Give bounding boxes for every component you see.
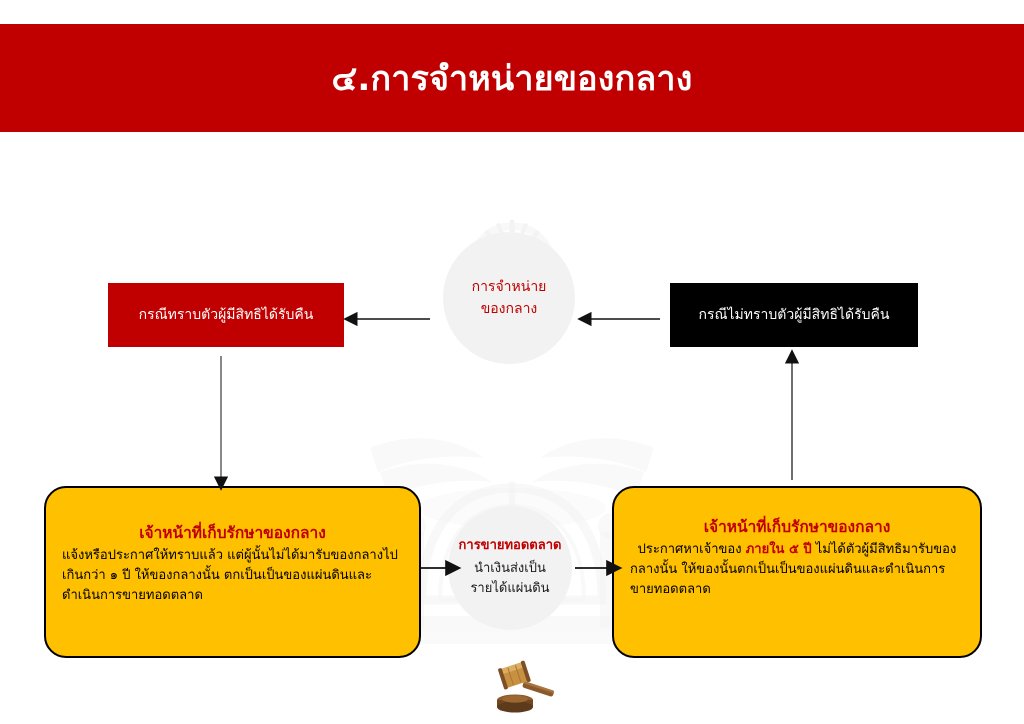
page-title: ๔.การจำหน่ายของกลาง xyxy=(0,24,1024,132)
officer-right-body: ประกาศหาเจ้าของ ภายใน ๕ ปี ไม่ได้ตัวผู้ม… xyxy=(630,540,964,600)
node-disposal-of-evidence[interactable]: การจำหน่าย ของกลาง xyxy=(443,232,575,364)
officer-left-heading: เจ้าหน้าที่เก็บรักษาของกลาง xyxy=(62,524,403,543)
auction-label-line2: รายได้แผ่นดิน xyxy=(470,579,549,600)
auction-title: การขายทอดตลาด xyxy=(459,536,562,557)
officer-right-body-part2: ไม่ได้ตัวผู้มีสิทธิมารับของ xyxy=(812,542,957,557)
node-public-auction[interactable]: การขายทอดตลาด นำเงินส่งเป็น รายได้แผ่นดิ… xyxy=(448,506,572,630)
box-case-unknown-rightholder[interactable]: กรณีไม่ทราบตัวผู้มีสิทธิได้รับคืน xyxy=(670,283,918,347)
disposal-label-line1: การจำหน่าย xyxy=(472,276,547,298)
auction-label-line1: นำเงินส่งเป็น xyxy=(474,559,546,580)
box-case-known-rightholder[interactable]: กรณีทราบตัวผู้มีสิทธิได้รับคืน xyxy=(108,283,344,347)
officer-right-heading: เจ้าหน้าที่เก็บรักษาของกลาง xyxy=(630,518,964,537)
header-banner: ๔.การจำหน่ายของกลาง xyxy=(0,24,1024,132)
box-officer-custodian-left[interactable]: เจ้าหน้าที่เก็บรักษาของกลาง แจ้งหรือประก… xyxy=(44,486,421,658)
gavel-icon xyxy=(489,655,561,717)
officer-left-body: แจ้งหรือประกาศให้ทราบแล้ว แต่ผู้นั้นไม่ไ… xyxy=(62,546,403,606)
disposal-label-line2: ของกลาง xyxy=(481,298,538,320)
officer-right-body-highlight: ภายใน ๕ ปี xyxy=(746,542,812,557)
officer-right-body-part1: ประกาศหาเจ้าของ xyxy=(638,542,746,557)
officer-right-body-part3: กลางนั้น ให้ของนั้นตกเป็นเป็นของแผ่นดินแ… xyxy=(630,560,964,600)
slide-canvas: ๔.การจำหน่ายของกลาง xyxy=(0,0,1024,724)
box-officer-custodian-right[interactable]: เจ้าหน้าที่เก็บรักษาของกลาง ประกาศหาเจ้า… xyxy=(612,486,982,658)
